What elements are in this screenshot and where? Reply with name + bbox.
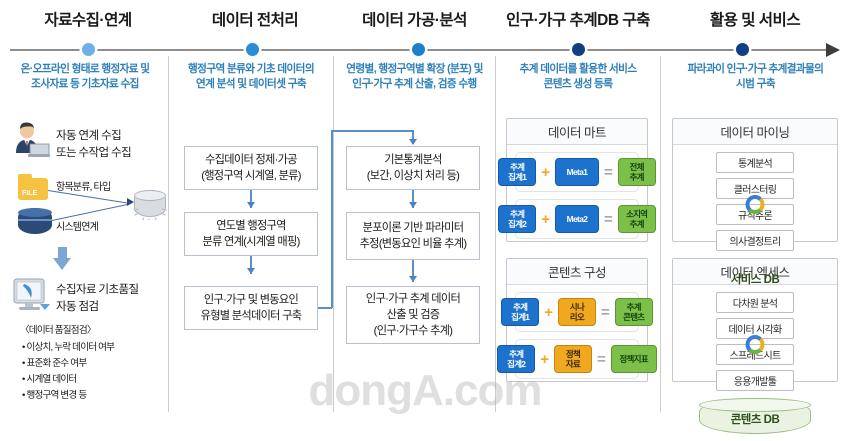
contents-row-2-left: 추계 집계2 bbox=[497, 345, 535, 373]
mart-row-1-plus-icon: + bbox=[541, 164, 550, 181]
mart-row-2-right-label: 소지역 추계 bbox=[626, 209, 647, 229]
quality-item-4-label: 행정구역 변경 등 bbox=[26, 390, 86, 401]
tag-statistical-analysis: 통계분석 bbox=[716, 152, 794, 173]
quality-heading: 〈데이터 품질점검〉 bbox=[20, 323, 96, 339]
contents-row-1-equals-icon: = bbox=[601, 304, 610, 321]
phase-title-2: 데이터 전처리 bbox=[176, 8, 334, 30]
tag-app-dev-tool: 응용개발툴 bbox=[716, 370, 794, 391]
mart-row-2-equals-icon: = bbox=[604, 211, 613, 228]
contents-row-1: 추계 집계1 + 시나 리오 = 추계 콘텐츠 bbox=[515, 292, 639, 332]
phase-title-5: 활용 및 서비스 bbox=[660, 8, 850, 30]
subtitle-4: 추계 데이터를 활용한 서비스 콘텐츠 생성 등록 bbox=[499, 62, 657, 92]
panel-data-mart-title: 데이터 마트 bbox=[507, 119, 647, 145]
mart-row-2-mid: Meta2 bbox=[555, 205, 599, 233]
mart-row-1-right: 전체 추계 bbox=[618, 158, 656, 186]
contents-row-1-right-label: 추계 콘텐츠 bbox=[623, 302, 644, 322]
flow-down-arrow-icon bbox=[53, 258, 71, 270]
contents-row-2-mid: 정책 자료 bbox=[554, 345, 592, 373]
access-ring-icon bbox=[746, 335, 765, 354]
panel-data-mart: 데이터 마트 추계 집계1 + Meta1 = 전체 추계 추계 집계2 + M… bbox=[506, 118, 648, 242]
subtitle-1: 온·오프라인 형태로 행정자료 및 조사자료 등 기초자료 수집 bbox=[4, 62, 166, 92]
col2-to-col3-h1 bbox=[318, 307, 332, 309]
col3-box-2: 분포이론 기반 파라미터 추정(변동요인 비율 추계) bbox=[346, 212, 480, 260]
system-flow-label: 시스템연계 bbox=[56, 220, 98, 236]
col2-box-1: 수집데이터 정제·가공 (행정구역 시계열, 분류) bbox=[184, 146, 318, 190]
tag-multidimensional-analysis: 다차원 분석 bbox=[716, 292, 794, 313]
panel-data-mining-title: 데이터 마이닝 bbox=[673, 119, 837, 145]
contents-row-2-plus-icon: + bbox=[540, 351, 549, 368]
col3-arrow-1-head-icon bbox=[409, 202, 417, 208]
timeline-dot-2 bbox=[246, 43, 259, 56]
timeline-dot-3 bbox=[412, 43, 425, 56]
system-to-db-arrow bbox=[52, 204, 129, 222]
quality-item-2: • 표준화 준수 여부 bbox=[22, 356, 86, 372]
quality-label-line1: 수집자료 기초품질 bbox=[56, 282, 138, 298]
file-folder-label: FILE bbox=[22, 190, 37, 197]
contents-row-1-mid: 시나 리오 bbox=[558, 298, 596, 326]
column-divider-3 bbox=[495, 56, 496, 412]
contents-db-label: 콘텐츠 DB bbox=[731, 411, 780, 427]
contents-row-2-equals-icon: = bbox=[597, 351, 606, 368]
quality-item-1-label: 이상치, 누락 데이터 여부 bbox=[26, 342, 114, 353]
col3-arrow-2-head-icon bbox=[409, 276, 417, 282]
col3-entry-arrow-head-icon bbox=[409, 139, 417, 145]
col3-box-3: 인구·가구 추계 데이터 산출 및 검증 (인구·가구수 추계) bbox=[346, 286, 480, 344]
panel-data-mining: 데이터 마이닝 통계분석 클러스터링 규칙추론 의사결정트리 서비스 DB bbox=[672, 118, 838, 242]
timeline-arrow-icon bbox=[826, 43, 840, 57]
mart-row-2-left: 추계 집계2 bbox=[498, 205, 536, 233]
contents-row-2-left-label: 추계 집계2 bbox=[507, 349, 525, 369]
contents-row-1-left: 추계 집계1 bbox=[501, 298, 539, 326]
subtitle-2: 행정구역 분류와 기초 데이터의 연계 분석 및 데이터셋 구축 bbox=[172, 62, 330, 92]
timeline-dot-4 bbox=[572, 43, 585, 56]
col2-box-3: 인구·가구 및 변동요인 유형별 분석데이터 구축 bbox=[184, 286, 318, 330]
mart-row-2-left-label: 추계 집계2 bbox=[508, 209, 526, 229]
mart-row-1: 추계 집계1 + Meta1 = 전체 추계 bbox=[515, 152, 639, 192]
quality-label-line2: 자동 점검 bbox=[56, 299, 99, 315]
mart-row-2-right: 소지역 추계 bbox=[618, 205, 656, 233]
contents-row-1-mid-label: 시나 리오 bbox=[570, 302, 584, 322]
mining-ring-icon bbox=[746, 195, 765, 214]
mart-row-1-mid: Meta1 bbox=[555, 158, 599, 186]
col2-to-col3-v bbox=[331, 130, 333, 308]
mart-row-1-equals-icon: = bbox=[604, 164, 613, 181]
monitor-check-icon bbox=[12, 278, 50, 312]
quality-item-1: • 이상치, 누락 데이터 여부 bbox=[22, 340, 114, 356]
tag-decision-tree: 의사결정트리 bbox=[716, 230, 794, 251]
contents-row-2-right: 정책지표 bbox=[611, 345, 657, 373]
mart-row-1-left: 추계 집계1 bbox=[498, 158, 536, 186]
quality-item-3: • 시계열 데이터 bbox=[22, 372, 76, 388]
col3-box-1: 기본통계분석 (보간, 이상치 처리 등) bbox=[346, 146, 480, 190]
target-db-glow-icon bbox=[132, 188, 168, 220]
contents-row-2-mid-label: 정책 자료 bbox=[566, 349, 580, 369]
subtitle-5: 파라과이 인구·가구 추계결과물의 시범 구축 bbox=[664, 62, 847, 92]
column-divider-2 bbox=[333, 56, 334, 412]
subtitle-3: 연령별, 행정구역별 확장 (분포) 및 인구·가구 추계 산출, 검증 수행 bbox=[337, 62, 492, 92]
mart-row-1-right-label: 전체 추계 bbox=[630, 162, 644, 182]
col2-arrow-2-head-icon bbox=[247, 268, 255, 274]
col2-box-2: 연도별 행정구역 분류 연계(시계열 매핑) bbox=[184, 212, 318, 256]
service-db-label: 서비스 DB bbox=[731, 271, 780, 287]
source-db-icon bbox=[18, 208, 52, 234]
mart-row-2-plus-icon: + bbox=[541, 211, 550, 228]
contents-row-1-plus-icon: + bbox=[544, 304, 553, 321]
panel-data-mart-body: 추계 집계1 + Meta1 = 전체 추계 추계 집계2 + Meta2 = … bbox=[507, 145, 647, 246]
timeline-dot-1 bbox=[82, 43, 95, 56]
contents-row-1-right: 추계 콘텐츠 bbox=[615, 298, 653, 326]
col2-to-col3-h2 bbox=[331, 130, 413, 132]
diagram-root: 자료수집·연계 데이터 전처리 데이터 가공·분석 인구·가구 추계DB 구축 … bbox=[0, 0, 850, 418]
mart-row-1-left-label: 추계 집계1 bbox=[508, 162, 526, 182]
quality-item-2-label: 표준화 준수 여부 bbox=[26, 358, 86, 369]
timeline-dot-5 bbox=[736, 43, 749, 56]
contents-row-2: 추계 집계2 + 정책 자료 = 정책지표 bbox=[515, 339, 639, 379]
quality-item-4: • 행정구역 변경 등 bbox=[22, 388, 86, 404]
panel-contents-composition: 콘텐츠 구성 추계 집계1 + 시나 리오 = 추계 콘텐츠 추계 집계2 bbox=[506, 258, 648, 382]
column-divider-1 bbox=[168, 56, 169, 412]
mart-row-2: 추계 집계2 + Meta2 = 소지역 추계 bbox=[515, 199, 639, 239]
file-folder-icon: FILE bbox=[18, 178, 48, 200]
contents-row-1-left-label: 추계 집계1 bbox=[511, 302, 529, 322]
col2-arrow-1-head-icon bbox=[247, 202, 255, 208]
column-divider-4 bbox=[660, 56, 661, 412]
contents-db-cylinder: 콘텐츠 DB bbox=[699, 398, 811, 434]
panel-contents-body: 추계 집계1 + 시나 리오 = 추계 콘텐츠 추계 집계2 + 정책 자료 bbox=[507, 285, 647, 386]
panel-contents-title: 콘텐츠 구성 bbox=[507, 259, 647, 285]
quality-item-3-label: 시계열 데이터 bbox=[26, 374, 76, 385]
phase-title-row: 자료수집·연계 데이터 전처리 데이터 가공·분석 인구·가구 추계DB 구축 … bbox=[0, 8, 850, 38]
phase-title-1: 자료수집·연계 bbox=[0, 8, 176, 30]
collect-label-line2: 또는 수작업 수집 bbox=[56, 145, 131, 161]
collect-label-line1: 자동 연계 수집 bbox=[56, 128, 121, 144]
person-laptop-icon bbox=[10, 122, 50, 160]
